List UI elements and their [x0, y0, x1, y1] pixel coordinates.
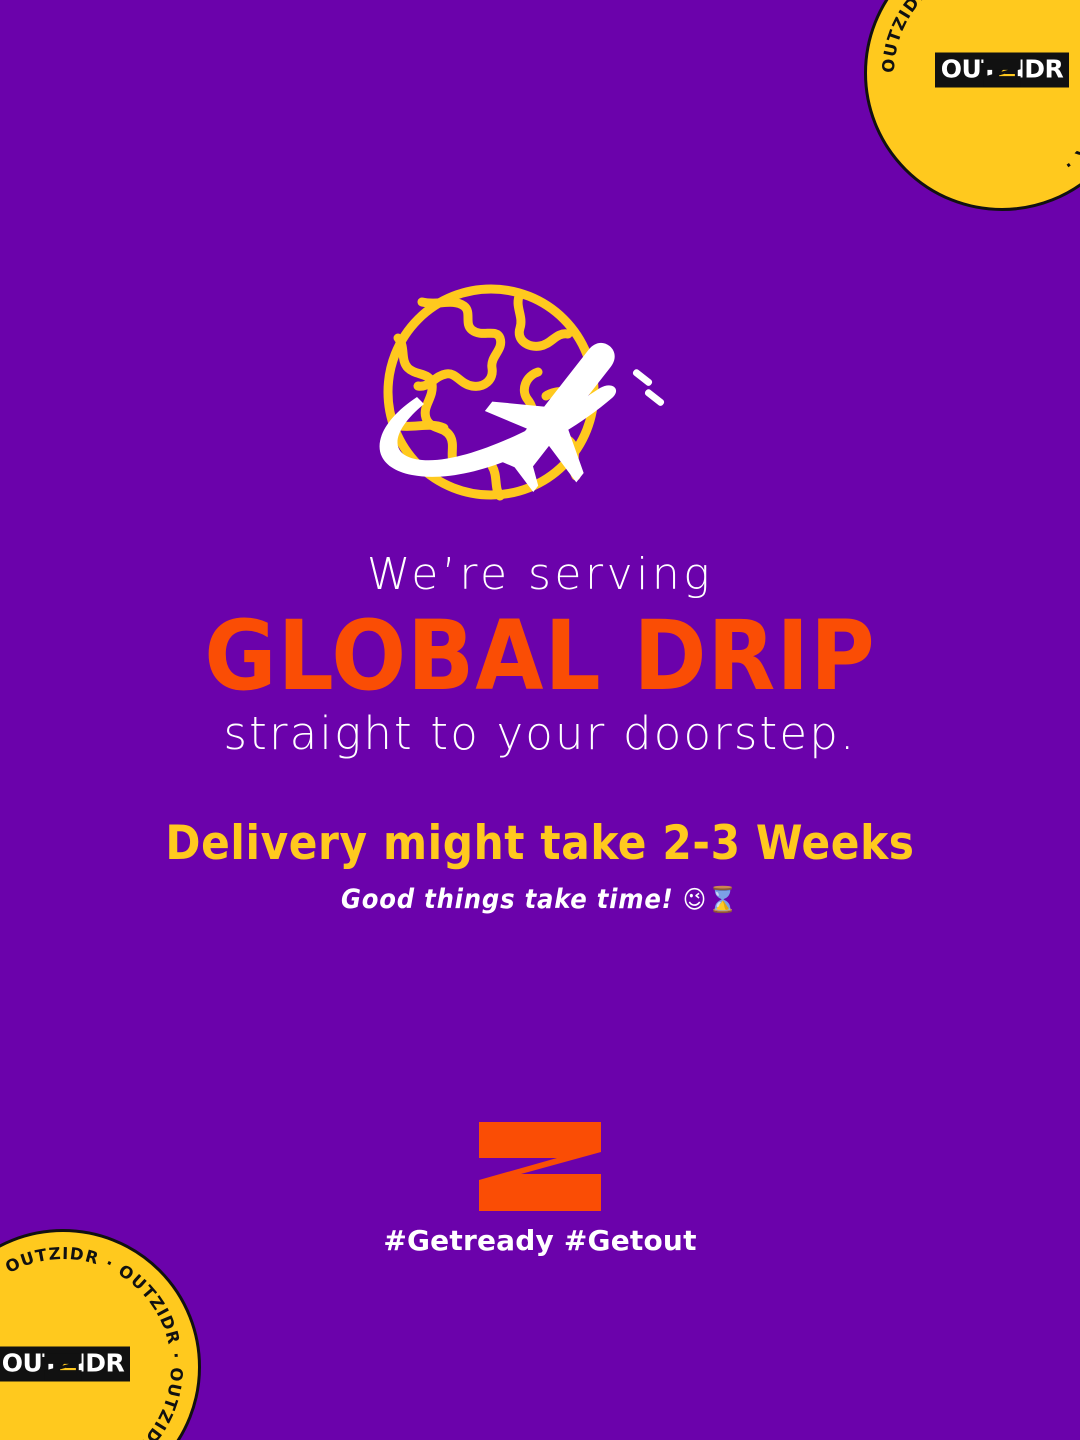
z-mark-icon	[0, 1353, 138, 1382]
z-mark-icon	[927, 59, 1077, 88]
svg-text:OUTZIDR · OUTZIDR · OUTZIDR ·: OUTZIDR · OUTZIDR · OUTZIDR · OUTZIDR ·	[879, 0, 1080, 175]
badge-ring-text-top-right: OUTZIDR · OUTZIDR · OUTZIDR · OUTZIDR ·	[867, 0, 1080, 208]
delivery-headline: Delivery might take 2-3 Weeks	[0, 818, 1080, 870]
badge-inner-mark-top-right: OUTZIDR	[927, 59, 1077, 88]
promo-poster: OUTZIDR · OUTZIDR · OUTZIDR · OUTZIDR · …	[0, 0, 1080, 1440]
headline-block: We’re serving GLOBAL DRIP straight to yo…	[0, 552, 1080, 757]
badge-ring-label: OUTZIDR · OUTZIDR · OUTZIDR · OUTZIDR ·	[879, 0, 1080, 175]
svg-text:OUTZIDR · OUTZIDR · OUTZIDR ·: OUTZIDR · OUTZIDR · OUTZIDR · OUTZIDR ·	[0, 1244, 186, 1440]
delivery-notice: Delivery might take 2-3 Weeks Good thing…	[0, 818, 1080, 915]
badge-ring-text-bottom-left: OUTZIDR · OUTZIDR · OUTZIDR · OUTZIDR ·	[0, 1232, 198, 1440]
outzidr-stamp-bottom-left: OUTZIDR · OUTZIDR · OUTZIDR · OUTZIDR · …	[0, 1229, 201, 1440]
hourglass-icon: ⌛	[707, 885, 739, 914]
badge-ring-label: OUTZIDR · OUTZIDR · OUTZIDR · OUTZIDR ·	[0, 1244, 186, 1440]
subline-text: straight to your doorstep.	[0, 710, 1080, 757]
delivery-subtext-label: Good things take time!	[341, 884, 674, 915]
page-title: GLOBAL DRIP	[0, 608, 1080, 704]
kicker-text: We’re serving	[0, 552, 1080, 598]
winking-face-icon: 😉	[683, 885, 707, 914]
outzidr-z-logo	[479, 1122, 601, 1214]
hashtags-text: #Getready #Getout	[0, 1224, 1080, 1257]
outzidr-stamp-top-right: OUTZIDR · OUTZIDR · OUTZIDR · OUTZIDR · …	[864, 0, 1080, 211]
globe-with-airplane-icon	[360, 276, 720, 506]
delivery-subtext: Good things take time! 😉⌛	[0, 884, 1080, 915]
badge-inner-mark-bottom-left: OUTZIDR	[0, 1353, 138, 1382]
footer-branding: #Getready #Getout	[0, 1122, 1080, 1257]
